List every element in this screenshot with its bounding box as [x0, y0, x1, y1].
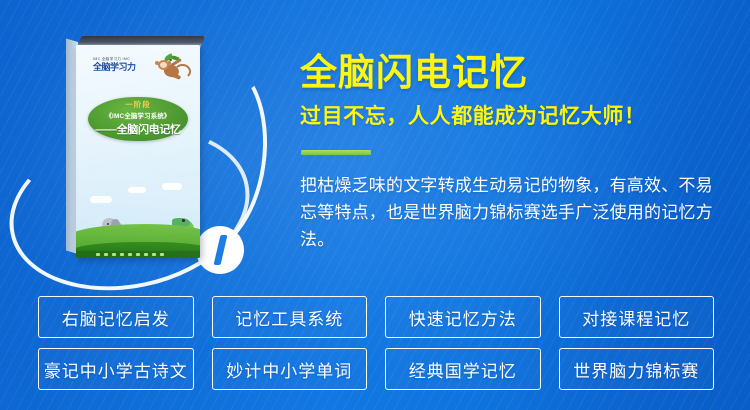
- scene-bottom-strip: [76, 251, 200, 258]
- green-divider: [301, 150, 371, 155]
- step-number-badge: [196, 226, 244, 274]
- feature-tag[interactable]: 对接课程记忆: [559, 296, 715, 338]
- monkey-face: [160, 62, 167, 68]
- box-stage-label: 一阶段: [88, 99, 188, 110]
- description-text: 把枯燥乏味的文字转成生动易记的物象，有高效、不易忘等特点，也是世界脑力锦标赛选手…: [300, 172, 720, 253]
- product-artwork: IMC 全脑学习力 IMC 全脑学习力 一: [0, 0, 290, 290]
- box-title-badge: 一阶段 《IMC全脑学习系统》 ——全脑闪电记忆: [88, 97, 188, 141]
- monkey-icon: [154, 55, 188, 85]
- product-box: IMC 全脑学习力 IMC 全脑学习力 一: [74, 36, 200, 258]
- feature-tag[interactable]: 豪记中小学古诗文: [38, 348, 194, 390]
- brand-logo: IMC 全脑学习力 IMC 全脑学习力: [93, 57, 139, 73]
- cloud-icon-2: [128, 187, 146, 193]
- page-subtitle: 过目不忘，人人都能成为记忆大师！: [300, 104, 646, 130]
- crocodile-eye: [182, 219, 185, 222]
- box-system-label: 《IMC全脑学习系统》: [88, 111, 188, 120]
- box-front-face: IMC 全脑学习力 IMC 全脑学习力 一: [76, 45, 200, 258]
- feature-tag[interactable]: 记忆工具系统: [212, 296, 368, 338]
- feature-tag[interactable]: 右脑记忆启发: [38, 296, 194, 338]
- step-number-glyph: [214, 235, 228, 265]
- feature-tag[interactable]: 经典国学记忆: [385, 348, 541, 390]
- feature-tag-grid: 右脑记忆启发 记忆工具系统 快速记忆方法 对接课程记忆 豪记中小学古诗文 妙计中…: [38, 296, 714, 390]
- cloud-icon-1: [90, 196, 112, 203]
- feature-tag[interactable]: 快速记忆方法: [385, 296, 541, 338]
- cloud-icon-3: [162, 183, 182, 190]
- feature-tag[interactable]: 妙计中小学单词: [212, 348, 368, 390]
- page-title: 全脑闪电记忆: [300, 52, 528, 94]
- jungle-illustration: [76, 180, 200, 258]
- promo-banner: IMC 全脑学习力 IMC 全脑学习力 一: [0, 0, 750, 410]
- brand-logo-main: 全脑学习力: [93, 62, 139, 72]
- box-product-name: ——全脑闪电记忆: [88, 121, 188, 137]
- feature-tag[interactable]: 世界脑力锦标赛: [559, 348, 715, 390]
